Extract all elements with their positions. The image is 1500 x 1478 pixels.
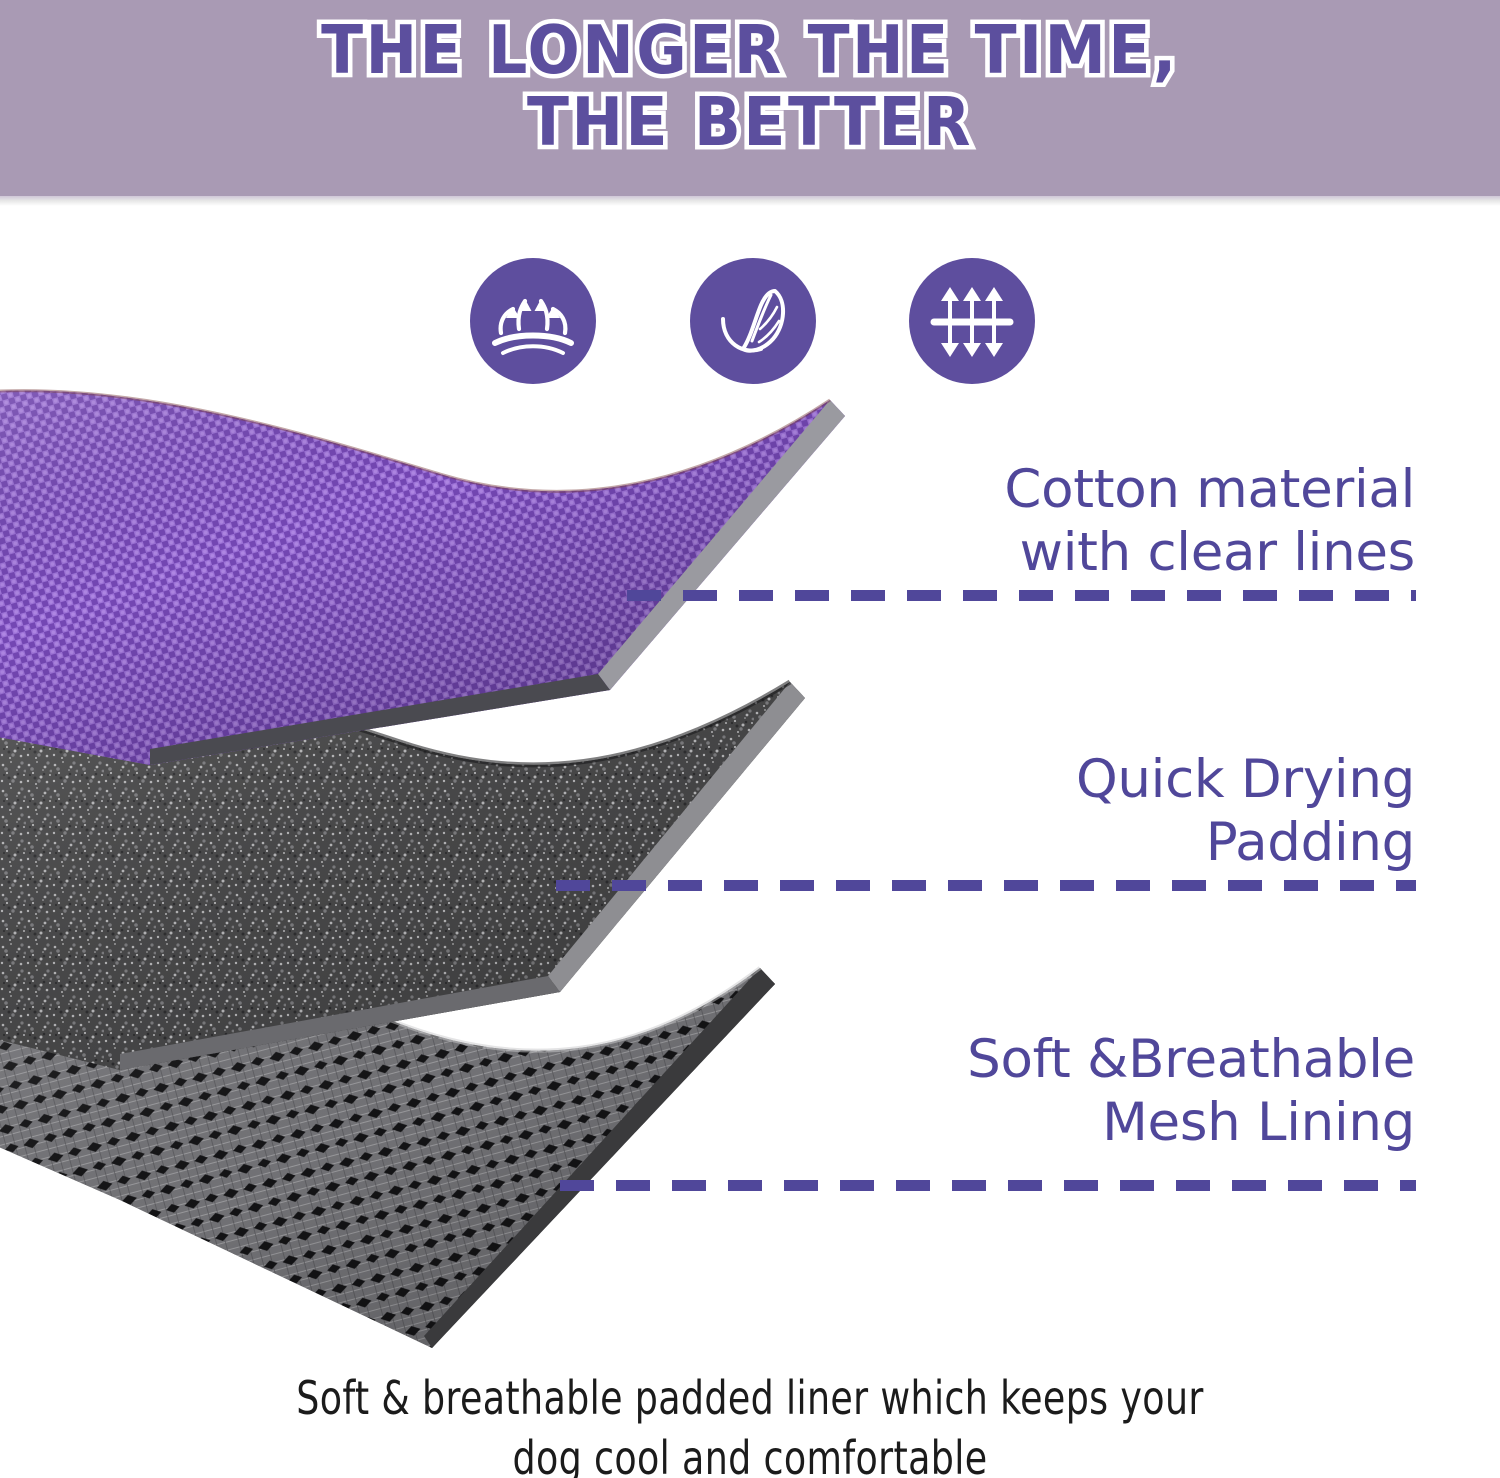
- leader-line-padding: [556, 880, 1416, 891]
- page-title: THE LONGER THE TIME, THE BETTER: [0, 14, 1500, 158]
- feature-icon-row: [470, 255, 1035, 387]
- leader-line-mesh: [560, 1180, 1416, 1191]
- callout-label-mesh: Soft &Breathable Mesh Lining: [715, 1028, 1415, 1154]
- infographic-page: THE LONGER THE TIME, THE BETTER: [0, 0, 1500, 1478]
- title-line-2: THE BETTER: [0, 86, 1500, 158]
- callout-label-padding: Quick Drying Padding: [715, 748, 1415, 874]
- footer-caption: Soft & breathable padded liner which kee…: [90, 1368, 1410, 1478]
- title-line-1: THE LONGER THE TIME,: [321, 11, 1179, 89]
- feather-icon: [690, 258, 816, 384]
- airflow-icon: [909, 258, 1035, 384]
- callout-label-cotton: Cotton material with clear lines: [715, 458, 1415, 584]
- leader-line-cotton: [627, 590, 1416, 601]
- header-underglow: [0, 196, 1500, 206]
- breathability-icon: [470, 258, 596, 384]
